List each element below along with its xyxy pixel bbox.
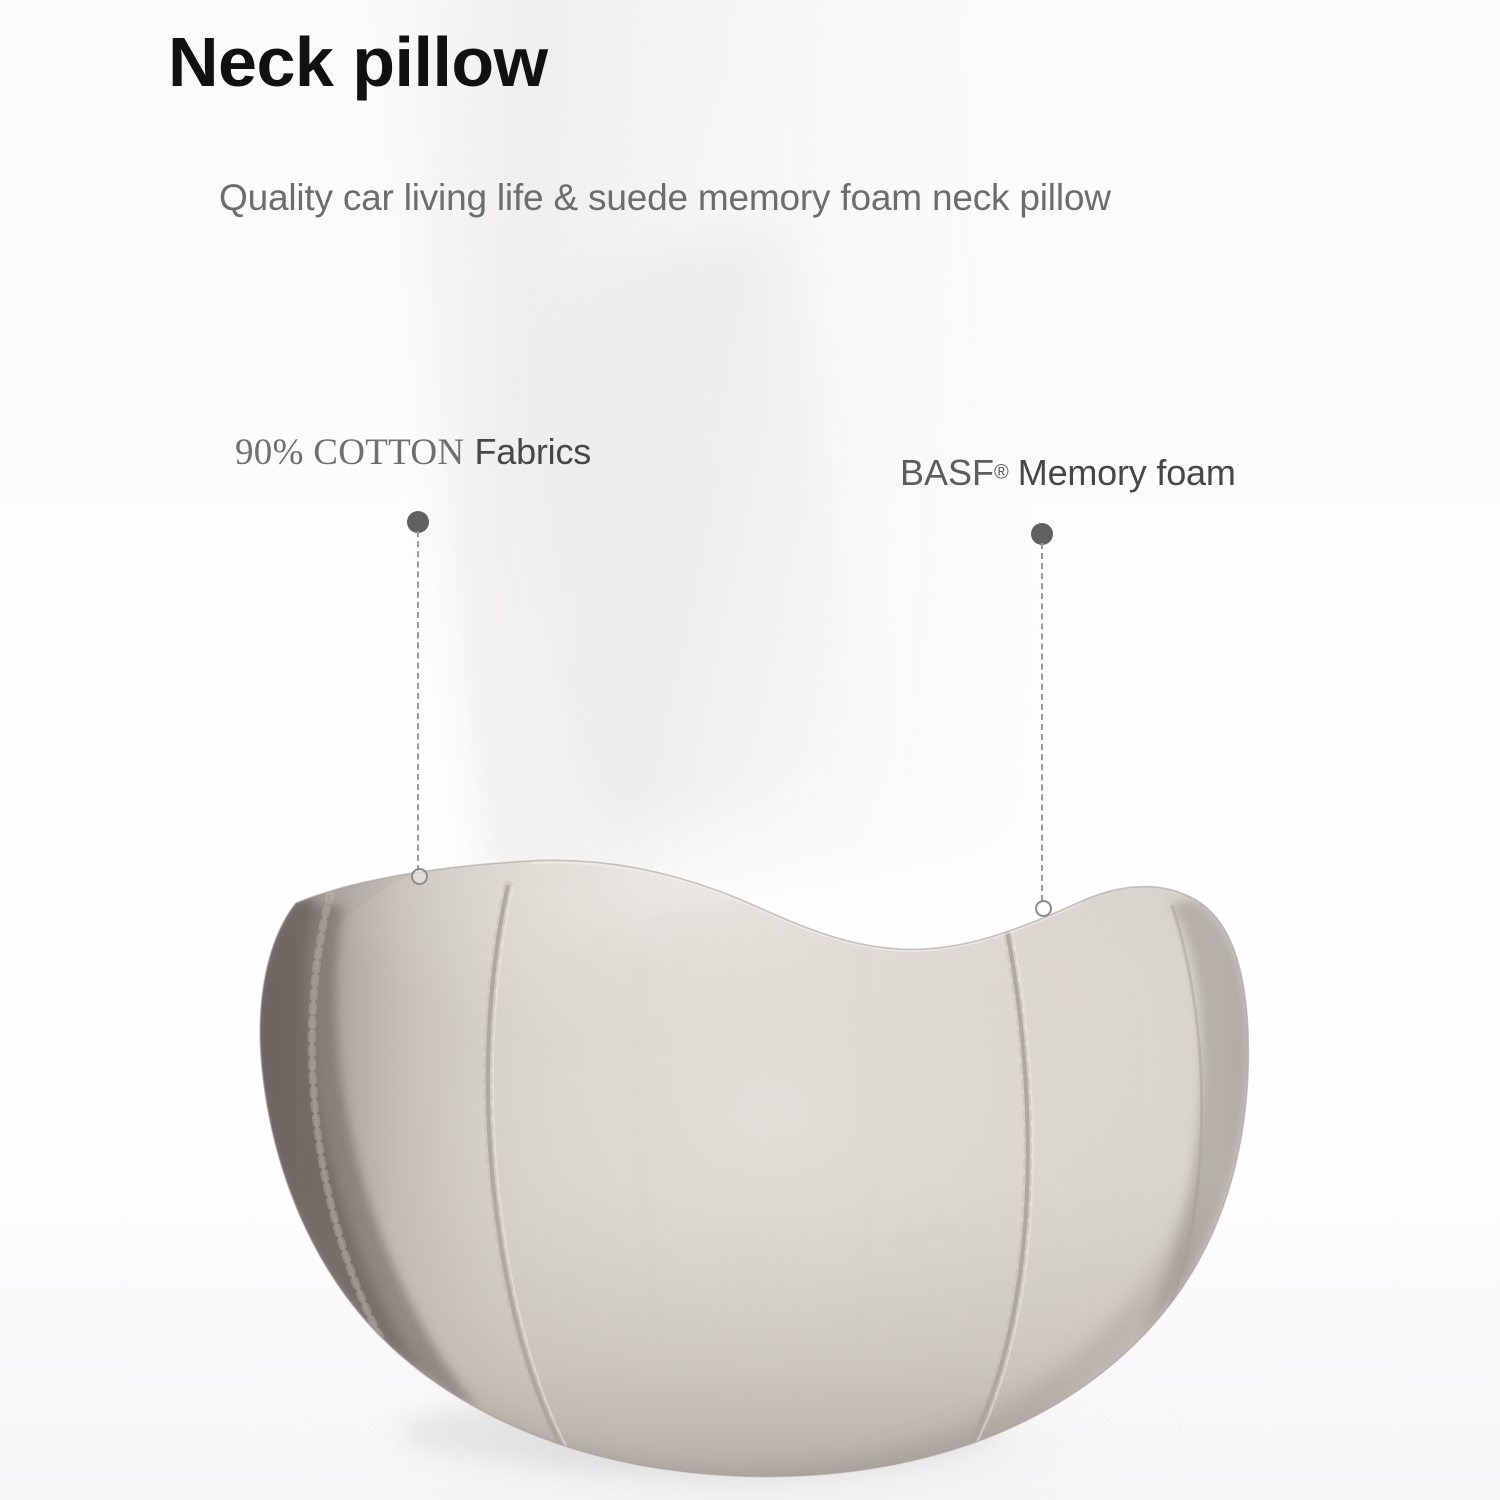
callout-lead-cotton: 90% COTTON xyxy=(235,432,464,473)
product-infographic-page: Neck pillow Quality car living life & su… xyxy=(0,0,1500,1500)
page-title: Neck pillow xyxy=(168,22,548,103)
callout-dot-cotton-fabrics xyxy=(407,511,429,533)
registered-trademark-icon: ® xyxy=(994,462,1009,484)
callout-label-cotton-fabrics: 90% COTTONFabrics xyxy=(235,434,591,471)
callout-tail-memory-foam: Memory foam xyxy=(1018,452,1236,493)
callout-dot-basf-memory-foam xyxy=(1031,523,1053,545)
callout-label-basf-memory-foam: BASF®Memory foam xyxy=(900,455,1236,491)
callout-anchor-ring-cotton-fabrics xyxy=(411,868,428,885)
callout-anchor-ring-basf-memory-foam xyxy=(1035,900,1052,917)
callout-lead-basf: BASF xyxy=(900,452,994,493)
page-subtitle: Quality car living life & suede memory f… xyxy=(219,177,1111,219)
background-base xyxy=(0,0,1500,1500)
callout-tail-fabrics: Fabrics xyxy=(474,431,591,472)
